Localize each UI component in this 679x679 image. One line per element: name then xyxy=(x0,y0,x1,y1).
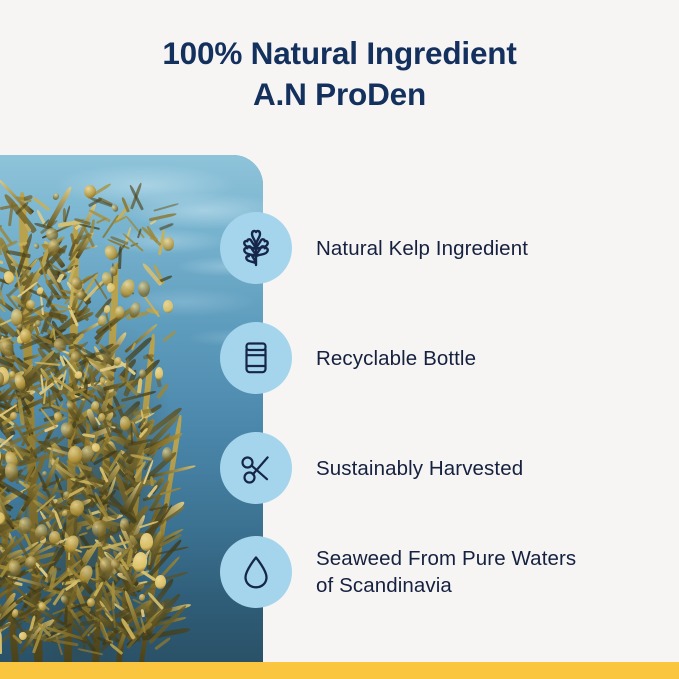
kelp-leaf-icon xyxy=(220,212,292,284)
feature-label: Recyclable Bottle xyxy=(316,345,476,372)
water-drop-icon xyxy=(220,536,292,608)
page-title: 100% Natural Ingredient A.N ProDen xyxy=(0,33,679,115)
page-title-line-2: A.N ProDen xyxy=(0,74,679,115)
kelp-plant xyxy=(0,162,214,662)
feature-label: Sustainably Harvested xyxy=(316,455,523,482)
bottle-icon xyxy=(220,322,292,394)
footer-accent-bar xyxy=(0,662,679,679)
product-infographic: 100% Natural Ingredient A.N ProDen Natur… xyxy=(0,0,679,679)
page-title-line-1: 100% Natural Ingredient xyxy=(0,33,679,74)
feature-label: Seaweed From Pure Waters of Scandinavia xyxy=(316,545,576,599)
feature-label: Natural Kelp Ingredient xyxy=(316,235,528,262)
feature-row: Recyclable Bottle xyxy=(220,322,670,394)
feature-row: Sustainably Harvested xyxy=(220,432,670,504)
feature-row: Seaweed From Pure Waters of Scandinavia xyxy=(220,536,670,608)
scissors-icon xyxy=(220,432,292,504)
feature-row: Natural Kelp Ingredient xyxy=(220,212,670,284)
